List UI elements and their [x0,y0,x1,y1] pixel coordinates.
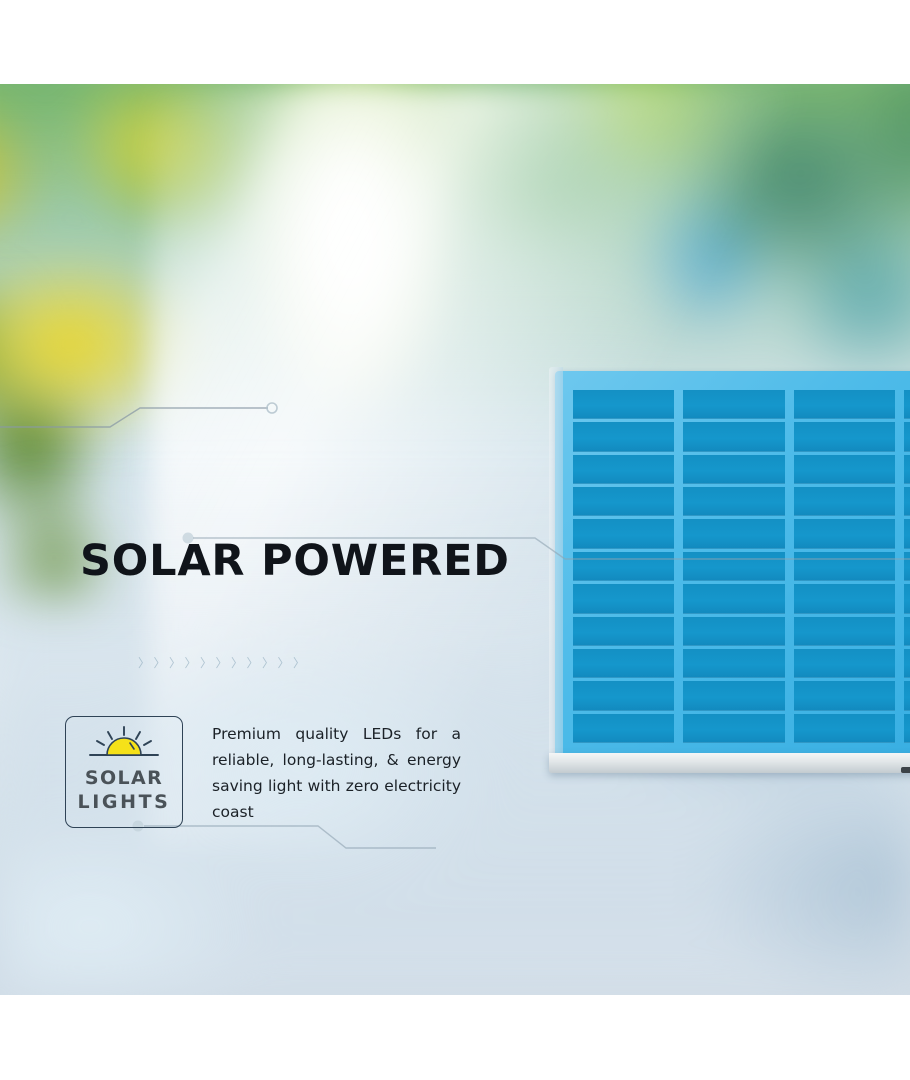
panel-cell [904,487,910,516]
banner-page: 〉〉〉〉〉〉〉〉〉〉〉 SOLAR POWERED [0,0,910,1080]
panel-cell [573,487,674,516]
bottom-white-margin [0,995,910,1080]
panel-cell [794,422,895,451]
sun-icon [81,726,167,762]
panel-cell [794,584,895,613]
panel-cell [904,714,910,743]
panel-cell [904,455,910,484]
panel-cell [683,649,784,678]
panel-cell [794,487,895,516]
panel-cell [683,617,784,646]
description-text: Premium quality LEDs for a reliable, lon… [212,721,461,825]
badge-line-1: SOLAR [85,767,163,789]
hero-banner: 〉〉〉〉〉〉〉〉〉〉〉 SOLAR POWERED [0,84,910,995]
decor-line-top [0,402,290,434]
panel-cell [573,617,674,646]
panel-cell [904,617,910,646]
panel-cell [683,455,784,484]
panel-cell [794,390,895,419]
panel-cell [573,681,674,710]
panel-cell [683,681,784,710]
panel-frame-bottom [549,753,910,773]
top-white-margin [0,0,910,84]
panel-cell [683,584,784,613]
panel-cell [904,422,910,451]
panel-cell [904,649,910,678]
panel-mount-foot [901,767,910,773]
page-title: SOLAR POWERED [80,536,510,586]
chevron-row: 〉〉〉〉〉〉〉〉〉〉〉 [138,657,309,669]
panel-cell [573,714,674,743]
panel-cell [573,390,674,419]
panel-cell [573,649,674,678]
panel-cell [683,714,784,743]
panel-cell [904,584,910,613]
panel-cell [573,584,674,613]
panel-cell [573,422,674,451]
panel-cell [794,617,895,646]
panel-cell [683,422,784,451]
panel-cell [794,681,895,710]
badge-line-2: LIGHTS [78,791,171,813]
panel-cell [794,714,895,743]
panel-cell [794,455,895,484]
panel-cell [573,455,674,484]
panel-cell [683,487,784,516]
panel-cell [794,649,895,678]
solar-lights-badge: SOLAR LIGHTS [65,716,183,828]
panel-cell [904,681,910,710]
panel-cell [683,390,784,419]
panel-cell [904,390,910,419]
